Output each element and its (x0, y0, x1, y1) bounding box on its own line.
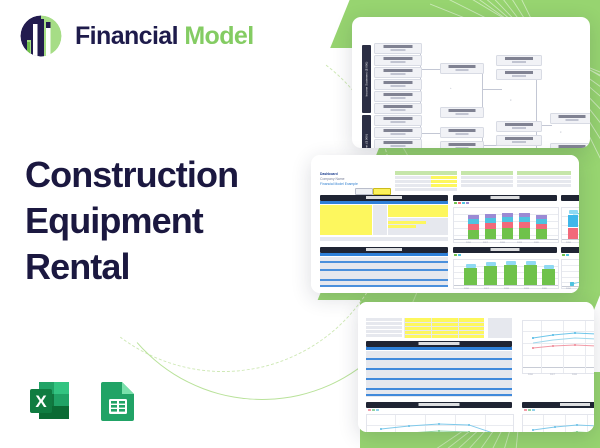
node (550, 113, 590, 124)
axis-tick: 2020 (534, 242, 539, 244)
axis-tick: 2016 (566, 242, 571, 244)
node (496, 121, 542, 132)
axis-tick: 2016 (566, 288, 571, 290)
group-label-income-statement: Income Statement ($ 000) (362, 45, 371, 113)
dashboard-sheet: Dashboard Company Name Financial Model E… (311, 155, 579, 293)
panel-header-cash-flow (453, 247, 557, 253)
financials-card[interactable]: 2016 2017 2018 2019 2020 (358, 302, 594, 432)
axis-tick: 2017 (483, 242, 488, 244)
line-chart-top-right (522, 320, 594, 374)
chart-legend (562, 254, 570, 257)
chart-legend (524, 409, 536, 412)
poster-canvas: Financial Model Construction Equipment R… (0, 0, 600, 448)
axis-tick: 2020 (542, 288, 547, 290)
axis-tick: 2018 (504, 288, 509, 290)
line-chart-bottom-right (522, 414, 594, 432)
node (440, 141, 484, 148)
axis-tick: 2017 (550, 374, 555, 376)
panel-header-core-financials (320, 247, 448, 253)
file-format-icons: X (26, 377, 140, 424)
excel-file-icon[interactable]: X (26, 377, 73, 424)
node (374, 127, 422, 138)
node (496, 69, 542, 80)
dashboard-title: Dashboard Company Name Financial Model E… (320, 172, 358, 187)
axis-tick: 2016 (528, 374, 533, 376)
axis-tick: 2016 (466, 242, 471, 244)
panel-header-revenue-streams (453, 195, 557, 201)
node (374, 79, 422, 90)
node (374, 55, 422, 66)
axis-tick: 2019 (524, 288, 529, 290)
node (374, 91, 422, 102)
brand-name-part2: Model (184, 22, 253, 50)
page-title-line2: Equipment (25, 198, 290, 244)
brand-name-part1: Financial (75, 22, 178, 50)
chart-legend (454, 254, 462, 257)
node (374, 103, 422, 114)
node (374, 115, 422, 126)
axis-tick: 2018 (500, 242, 505, 244)
stacked-bar-chart (453, 207, 559, 243)
brand-name: Financial Model (75, 22, 254, 51)
profitability-chart (561, 207, 579, 243)
cash-flow-chart (453, 259, 559, 289)
circular-chart-logo-icon (18, 13, 64, 59)
node (550, 143, 590, 148)
node (440, 63, 484, 74)
svg-text:X: X (35, 392, 47, 411)
group-label-balance-sheet: Balance Sheet ($ 000) (362, 115, 371, 148)
page-title-line1: Construction (25, 152, 290, 198)
node (440, 127, 484, 138)
panel-header-financials (366, 341, 512, 347)
dashboard-toggle-1[interactable] (355, 188, 373, 195)
page-title: Construction Equipment Rental (25, 152, 290, 290)
ratio-tree-diagram: Income Statement ($ 000) Balance Sheet (… (360, 37, 584, 144)
node (374, 43, 422, 54)
line-chart-bottom-left (366, 414, 514, 432)
dupont-tree-card[interactable]: Income Statement ($ 000) Balance Sheet (… (352, 17, 590, 148)
node (374, 67, 422, 78)
axis-tick: 2018 (572, 374, 577, 376)
axis-tick: 2016 (464, 288, 469, 290)
panel-header-ebitda (522, 402, 594, 408)
brand-logo[interactable]: Financial Model (18, 13, 254, 59)
node (496, 135, 542, 146)
node (440, 107, 484, 118)
axis-tick: 2019 (517, 242, 522, 244)
panel-header-investment-payback (561, 247, 579, 253)
panel-header-core-inputs (320, 195, 448, 201)
dashboard-card[interactable]: Dashboard Company Name Financial Model E… (311, 155, 579, 293)
dashboard-toggle-2[interactable] (373, 188, 391, 195)
axis-tick: 2017 (484, 288, 489, 290)
node (374, 139, 422, 148)
panel-header-profitability (561, 195, 579, 201)
google-sheets-file-icon[interactable] (95, 377, 140, 424)
node (496, 55, 542, 66)
page-title-line3: Rental (25, 244, 290, 290)
financials-sheet: 2016 2017 2018 2019 2020 (358, 302, 594, 432)
panel-header-revenue-margins (366, 402, 512, 408)
chart-legend (454, 202, 470, 205)
investment-payback-chart (561, 259, 579, 289)
chart-legend (368, 409, 380, 412)
